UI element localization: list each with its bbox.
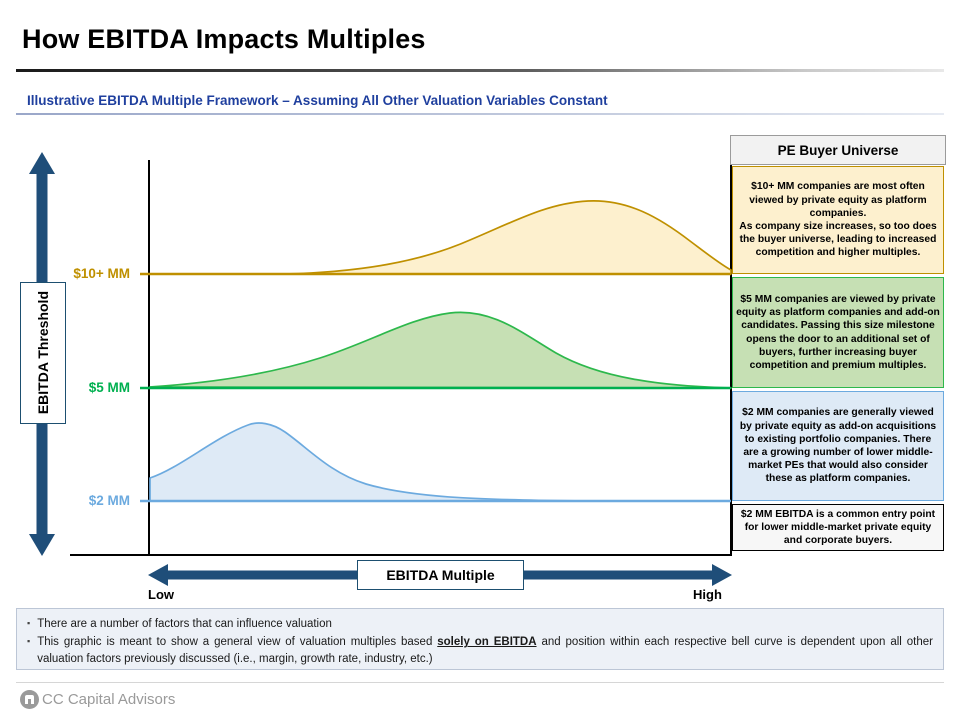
- threshold-label-2mm: $2 MM: [30, 493, 130, 508]
- pe-box-5mm-text: $5 MM companies are viewed by private eq…: [736, 293, 940, 372]
- footnote-text-2-emphasis: solely on EBITDA: [437, 636, 536, 648]
- footnote-text-2: This graphic is meant to show a general …: [37, 634, 933, 667]
- company-logo-icon: [20, 690, 39, 709]
- footnote-text-2-pre: This graphic is meant to show a general …: [37, 636, 437, 648]
- footer-brand: CC Capital Advisors: [20, 690, 175, 709]
- threshold-label-5mm: $5 MM: [30, 380, 130, 395]
- footnote-item-2: ▪ This graphic is meant to show a genera…: [27, 634, 933, 667]
- footnote-text-1: There are a number of factors that can i…: [37, 616, 933, 632]
- ebitda-multiple-label-box: EBITDA Multiple: [357, 560, 524, 590]
- curve-area-5mm: [150, 312, 731, 388]
- slide-canvas: How EBITDA Impacts Multiples Illustrativ…: [0, 0, 960, 720]
- pe-box-10mm: $10+ MM companies are most often viewed …: [732, 166, 944, 274]
- footer-brand-name: CC Capital Advisors: [42, 691, 175, 708]
- x-axis-line: [70, 554, 732, 556]
- pe-box-10mm-text: $10+ MM companies are most often viewed …: [736, 180, 940, 259]
- ebitda-threshold-label-box: EBITDA Threshold: [20, 282, 66, 424]
- footer-divider: [16, 682, 944, 683]
- curve-area-10mm: [285, 201, 731, 274]
- y-axis-line: [148, 160, 150, 556]
- title-divider: [16, 69, 944, 72]
- threshold-label-10mm: $10+ MM: [30, 266, 130, 281]
- pe-box-entry-point: $2 MM EBITDA is a common entry point for…: [732, 504, 944, 551]
- pe-buyer-universe-title: PE Buyer Universe: [778, 143, 899, 158]
- pe-box-5mm: $5 MM companies are viewed by private eq…: [732, 277, 944, 388]
- subtitle-divider: [16, 113, 944, 115]
- pe-buyer-universe-header: PE Buyer Universe: [730, 135, 946, 165]
- x-axis-high-label: High: [693, 587, 722, 602]
- x-axis-low-label: Low: [148, 587, 174, 602]
- pe-box-2mm-text: $2 MM companies are generally viewed by …: [736, 406, 940, 485]
- curve-area-2mm: [150, 423, 590, 501]
- footnote-item-1: ▪ There are a number of factors that can…: [27, 616, 933, 632]
- subtitle: Illustrative EBITDA Multiple Framework –…: [27, 93, 608, 108]
- footnote-box: ▪ There are a number of factors that can…: [16, 608, 944, 670]
- bullet-icon: ▪: [27, 634, 30, 667]
- page-title: How EBITDA Impacts Multiples: [22, 24, 426, 55]
- ebitda-multiple-label: EBITDA Multiple: [386, 567, 494, 583]
- footnote-text-1-pre: There are a number of factors that can i…: [37, 618, 332, 630]
- pe-box-entry-point-text: $2 MM EBITDA is a common entry point for…: [736, 508, 940, 548]
- bullet-icon: ▪: [27, 616, 30, 632]
- pe-box-2mm: $2 MM companies are generally viewed by …: [732, 391, 944, 501]
- ebitda-threshold-label: EBITDA Threshold: [35, 291, 51, 414]
